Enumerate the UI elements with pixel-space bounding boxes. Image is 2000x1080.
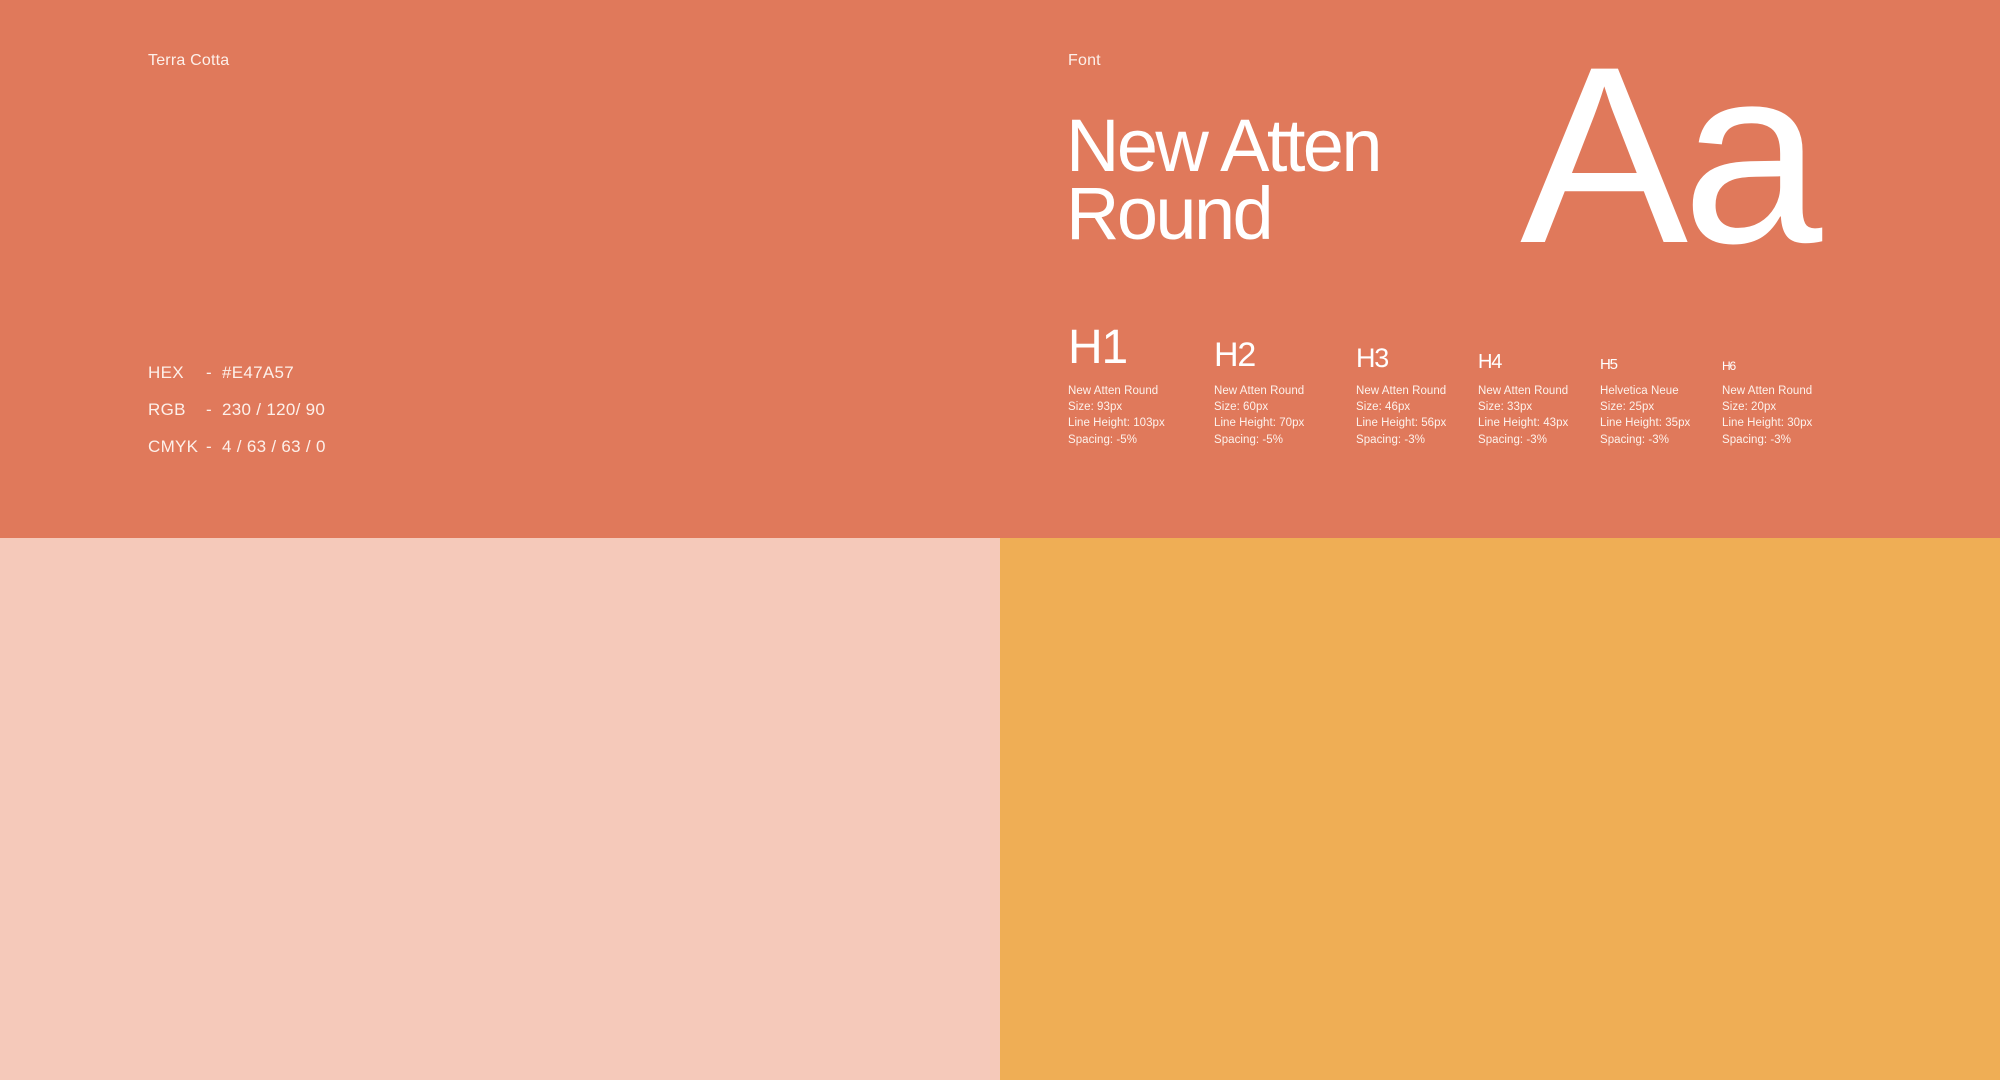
heading-spec-h5: H5 Helvetica Neue Size: 25px Line Height… [1600, 320, 1728, 448]
heading-spec-details-h4: New Atten Round Size: 33px Line Height: … [1478, 383, 1606, 448]
heading-label-h5: H5 [1600, 357, 1617, 372]
heading-spacing-h2: Spacing: -5% [1214, 432, 1342, 448]
value-dash: - [206, 437, 222, 457]
typeface-name-line-1: New Atten [1066, 112, 1496, 180]
heading-line-height-h2: Line Height: 70px [1214, 415, 1342, 431]
heading-scale-list: H1 New Atten Round Size: 93px Line Heigh… [1068, 320, 1898, 480]
value-number-cmyk: 4 / 63 / 63 / 0 [222, 437, 326, 457]
value-dash: - [206, 363, 222, 383]
heading-label-h3: H3 [1356, 345, 1388, 372]
heading-label-box: H2 [1214, 320, 1342, 372]
heading-spec-h3: H3 New Atten Round Size: 46px Line Heigh… [1356, 320, 1484, 448]
value-key-cmyk: CMYK [148, 437, 206, 457]
swatch-title-terra-cotta: Terra Cotta [148, 52, 229, 70]
heading-spec-details-h3: New Atten Round Size: 46px Line Height: … [1356, 383, 1484, 448]
color-panel-maximum-yellow-red: Maximum Yellow Red HEX - #F5B455 RGB - 2… [1000, 538, 2000, 1080]
heading-spacing-h1: Spacing: -5% [1068, 432, 1196, 448]
heading-size-h3: Size: 46px [1356, 399, 1484, 415]
heading-spacing-h6: Spacing: -3% [1722, 432, 1850, 448]
color-values-terra-cotta: HEX - #E47A57 RGB - 230 / 120/ 90 CMYK -… [148, 363, 326, 474]
typeface-name-line-2: Round [1066, 180, 1496, 248]
color-value-row-rgb: RGB - 230 / 120/ 90 [148, 400, 326, 437]
heading-line-height-h4: Line Height: 43px [1478, 415, 1606, 431]
heading-size-h6: Size: 20px [1722, 399, 1850, 415]
heading-spec-details-h5: Helvetica Neue Size: 25px Line Height: 3… [1600, 383, 1728, 448]
heading-label-h2: H2 [1214, 338, 1255, 372]
heading-spec-h4: H4 New Atten Round Size: 33px Line Heigh… [1478, 320, 1606, 448]
heading-spec-details-h2: New Atten Round Size: 60px Line Height: … [1214, 383, 1342, 448]
heading-spacing-h5: Spacing: -3% [1600, 432, 1728, 448]
heading-spacing-h3: Spacing: -3% [1356, 432, 1484, 448]
heading-spec-h6: H6 New Atten Round Size: 20px Line Heigh… [1722, 320, 1850, 448]
heading-line-height-h6: Line Height: 30px [1722, 415, 1850, 431]
color-panel-baby-pink: Baby Pink HEX - #FACABD RGB - 250 / 204 … [0, 538, 1000, 1080]
brand-style-guide-board: Terra Cotta HEX - #E47A57 RGB - 230 / 12… [0, 0, 2000, 1080]
heading-family-h1: New Atten Round [1068, 383, 1196, 399]
heading-label-box: H4 [1478, 320, 1606, 372]
heading-label-h6: H6 [1722, 360, 1735, 372]
color-panel-terra-cotta: Terra Cotta HEX - #E47A57 RGB - 230 / 12… [0, 0, 2000, 538]
value-number-rgb: 230 / 120/ 90 [222, 400, 325, 420]
heading-family-h5: Helvetica Neue [1600, 383, 1728, 399]
typeface-name: New Atten Round [1066, 112, 1496, 248]
value-key-rgb: RGB [148, 400, 206, 420]
heading-spec-details-h1: New Atten Round Size: 93px Line Height: … [1068, 383, 1196, 448]
heading-size-h4: Size: 33px [1478, 399, 1606, 415]
heading-family-h6: New Atten Round [1722, 383, 1850, 399]
heading-label-box: H6 [1722, 320, 1850, 372]
heading-family-h4: New Atten Round [1478, 383, 1606, 399]
value-dash: - [206, 400, 222, 420]
heading-label-box: H5 [1600, 320, 1728, 372]
heading-line-height-h3: Line Height: 56px [1356, 415, 1484, 431]
heading-size-h2: Size: 60px [1214, 399, 1342, 415]
heading-size-h1: Size: 93px [1068, 399, 1196, 415]
heading-spec-h2: H2 New Atten Round Size: 60px Line Heigh… [1214, 320, 1342, 448]
heading-family-h3: New Atten Round [1356, 383, 1484, 399]
heading-line-height-h5: Line Height: 35px [1600, 415, 1728, 431]
heading-label-h4: H4 [1478, 352, 1501, 372]
color-value-row-cmyk: CMYK - 4 / 63 / 63 / 0 [148, 437, 326, 474]
heading-label-box: H3 [1356, 320, 1484, 372]
heading-family-h2: New Atten Round [1214, 383, 1342, 399]
heading-spec-h1: H1 New Atten Round Size: 93px Line Heigh… [1068, 320, 1196, 448]
color-value-row-hex: HEX - #E47A57 [148, 363, 326, 400]
typeface-specimen-aa: Aa [1520, 48, 1816, 265]
value-number-hex: #E47A57 [222, 363, 294, 383]
heading-label-box: H1 [1068, 320, 1196, 372]
heading-spec-details-h6: New Atten Round Size: 20px Line Height: … [1722, 383, 1850, 448]
section-title-font: Font [1068, 52, 1101, 70]
heading-line-height-h1: Line Height: 103px [1068, 415, 1196, 431]
value-key-hex: HEX [148, 363, 206, 383]
heading-size-h5: Size: 25px [1600, 399, 1728, 415]
heading-spacing-h4: Spacing: -3% [1478, 432, 1606, 448]
heading-label-h1: H1 [1068, 324, 1127, 372]
